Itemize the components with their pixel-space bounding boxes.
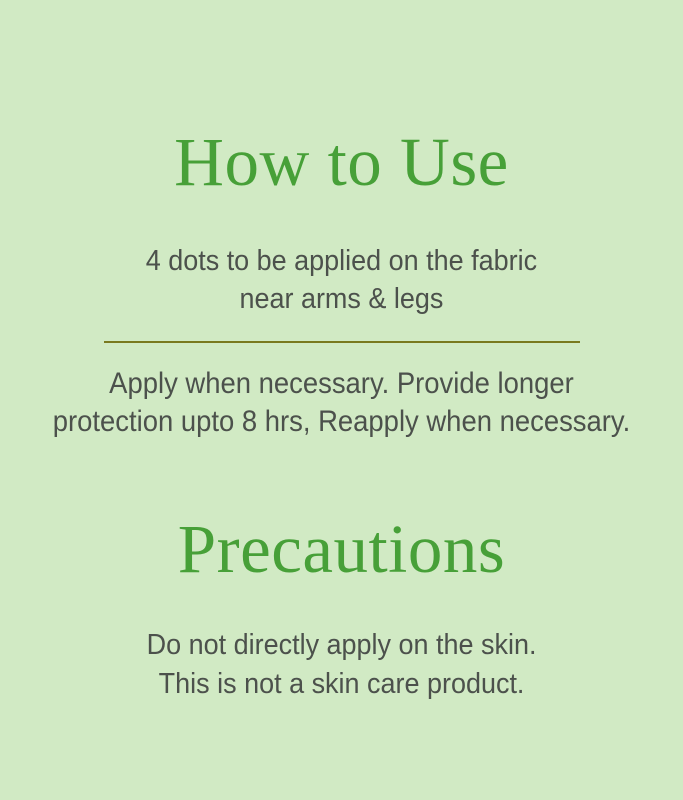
precautions-primary-text: Do not directly apply on the skin. This …	[147, 626, 537, 703]
section-how-to-use: How to Use 4 dots to be applied on the f…	[0, 0, 683, 442]
instructions-panel: How to Use 4 dots to be applied on the f…	[0, 0, 683, 800]
precautions-heading: Precautions	[178, 515, 505, 584]
how-to-use-secondary-line-1: Apply when necessary. Provide longer	[109, 367, 574, 400]
section-divider	[104, 341, 580, 343]
how-to-use-primary-line-1: 4 dots to be applied on the fabric	[146, 245, 537, 277]
precautions-line-2: This is not a skin care product.	[159, 668, 525, 700]
how-to-use-primary-text: 4 dots to be applied on the fabric near …	[146, 242, 537, 319]
how-to-use-secondary-text: Apply when necessary. Provide longer pro…	[53, 365, 630, 443]
how-to-use-primary-line-2: near arms & legs	[240, 283, 444, 315]
section-precautions: Precautions Do not directly apply on the…	[0, 442, 683, 703]
precautions-line-1: Do not directly apply on the skin.	[147, 629, 537, 661]
how-to-use-heading: How to Use	[174, 128, 509, 197]
how-to-use-secondary-line-2: protection upto 8 hrs, Reapply when nece…	[53, 405, 630, 438]
